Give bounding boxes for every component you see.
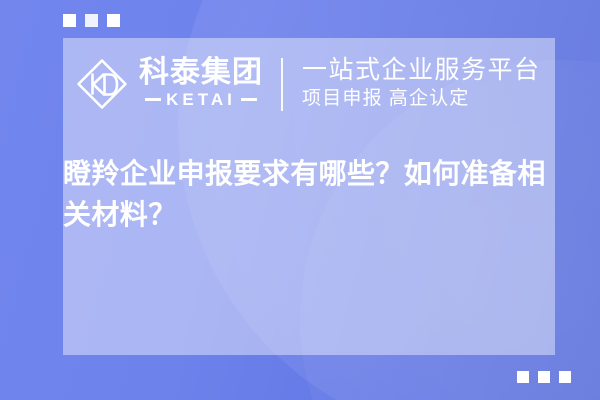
decorative-dots-top-left [63,14,120,27]
decor-square-icon [63,14,76,27]
tagline-primary: 一站式企业服务平台 [302,56,541,84]
brand-name-en: KETAI [166,90,236,110]
brand-logo[interactable]: 科泰集团 KETAI [74,56,263,112]
brand-tagline: 一站式企业服务平台 项目申报 高企认定 [302,56,541,112]
decor-square-icon [538,371,550,383]
article-cover-banner: 科泰集团 KETAI 一站式企业服务平台 项目申报 高企认定 瞪羚企业申报要求有… [0,0,600,400]
dash-right-icon [241,98,257,101]
content-panel: 科泰集团 KETAI 一站式企业服务平台 项目申报 高企认定 瞪羚企业申报要求有… [63,38,555,355]
decor-square-icon [517,371,529,383]
brand-name-cn: 科泰集团 [139,58,263,89]
decor-square-icon [559,371,571,383]
decor-square-icon [85,14,98,27]
brand-name-en-row: KETAI [139,90,263,110]
page-title: 瞪羚企业申报要求有哪些？如何准备相关材料？ [63,153,568,236]
tagline-secondary: 项目申报 高企认定 [302,87,541,112]
decor-square-icon [107,14,120,27]
header-divider [281,58,283,111]
decorative-dots-bottom-right [517,371,571,383]
ketai-diamond-kd-logo-icon [74,56,130,112]
brand-header: 科泰集团 KETAI 一站式企业服务平台 项目申报 高企认定 [63,38,555,130]
dash-left-icon [145,98,161,101]
brand-logo-wordmark: 科泰集团 KETAI [139,58,263,110]
